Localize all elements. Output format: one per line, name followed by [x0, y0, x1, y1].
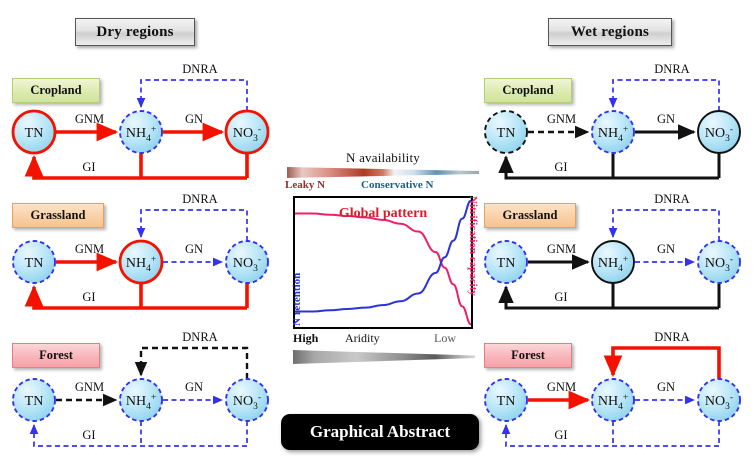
svg-text:TN: TN — [497, 126, 516, 141]
x-axis-label-aridity: Aridity — [345, 331, 380, 346]
svg-text:DNRA: DNRA — [654, 330, 689, 344]
n-cycle-diagram-wet-cropland: TNNH4+NO3-GNMGNGIDNRA — [476, 60, 751, 190]
svg-text:TN: TN — [497, 394, 516, 409]
n-cycle-diagram-wet-grassland: TNNH4+NO3-GNMGNGIDNRA — [476, 190, 751, 320]
svg-text:GI: GI — [554, 428, 567, 442]
n-cycle-diagram-wet-forest: TNNH4+NO3-GNMGNGIDNRA — [476, 328, 751, 458]
graphical-abstract-figure: Dry regions Wet regions Cropland Grassla… — [0, 0, 756, 461]
svg-text:TN: TN — [497, 256, 516, 271]
svg-text:DNRA: DNRA — [654, 192, 689, 206]
n-cycle-diagram-dry-grassland: TNNH4+NO3-GNMGNGIDNRA — [4, 190, 279, 320]
svg-text:DNRA: DNRA — [654, 62, 689, 76]
n-cycle-diagram-dry-cropland: TNNH4+NO3-GNMGNGIDNRA — [4, 60, 279, 190]
region-title-wet: Wet regions — [548, 18, 672, 46]
region-title-dry: Dry regions — [75, 18, 195, 46]
svg-text:DNRA: DNRA — [182, 330, 217, 344]
conservative-n-label: Conservative N — [361, 179, 433, 191]
aridity-low-tick: Low — [434, 331, 456, 346]
leaky-n-label: Leaky N — [285, 179, 325, 191]
svg-text:GI: GI — [82, 290, 95, 304]
svg-text:GNM: GNM — [547, 112, 576, 126]
svg-text:GNM: GNM — [75, 242, 104, 256]
n-availability-gradient-bar — [287, 167, 479, 178]
svg-text:GN: GN — [657, 380, 675, 394]
n-availability-title: N availability — [283, 150, 483, 166]
svg-text:GN: GN — [185, 242, 203, 256]
aridity-high-tick: High — [293, 331, 318, 346]
global-pattern-label: Global pattern — [283, 206, 483, 222]
svg-text:DNRA: DNRA — [182, 192, 217, 206]
svg-text:TN: TN — [25, 126, 44, 141]
svg-text:GN: GN — [185, 112, 203, 126]
svg-text:GNM: GNM — [547, 242, 576, 256]
svg-text:TN: TN — [25, 394, 44, 409]
aridity-gradient-bar — [293, 350, 475, 364]
svg-text:GI: GI — [82, 428, 95, 442]
svg-text:GI: GI — [554, 160, 567, 174]
n-cycle-diagram-dry-forest: TNNH4+NO3-GNMGNGIDNRA — [4, 328, 279, 458]
y-axis-label-n-retention: N retention — [291, 273, 303, 326]
svg-text:GN: GN — [185, 380, 203, 394]
svg-text:GNM: GNM — [75, 380, 104, 394]
svg-text:TN: TN — [25, 256, 44, 271]
svg-text:GNM: GNM — [75, 112, 104, 126]
graphical-abstract-badge: Graphical Abstract — [281, 414, 479, 450]
svg-text:GN: GN — [657, 112, 675, 126]
svg-text:GN: GN — [657, 242, 675, 256]
svg-text:DNRA: DNRA — [182, 62, 217, 76]
svg-text:GI: GI — [554, 290, 567, 304]
svg-text:GI: GI — [82, 160, 95, 174]
svg-text:GNM: GNM — [547, 380, 576, 394]
global-pattern-chart: N availability Leaky N Conserva — [283, 150, 483, 375]
y-axis-label-nitrification-capacity: Nitrification capacity — [467, 196, 479, 296]
